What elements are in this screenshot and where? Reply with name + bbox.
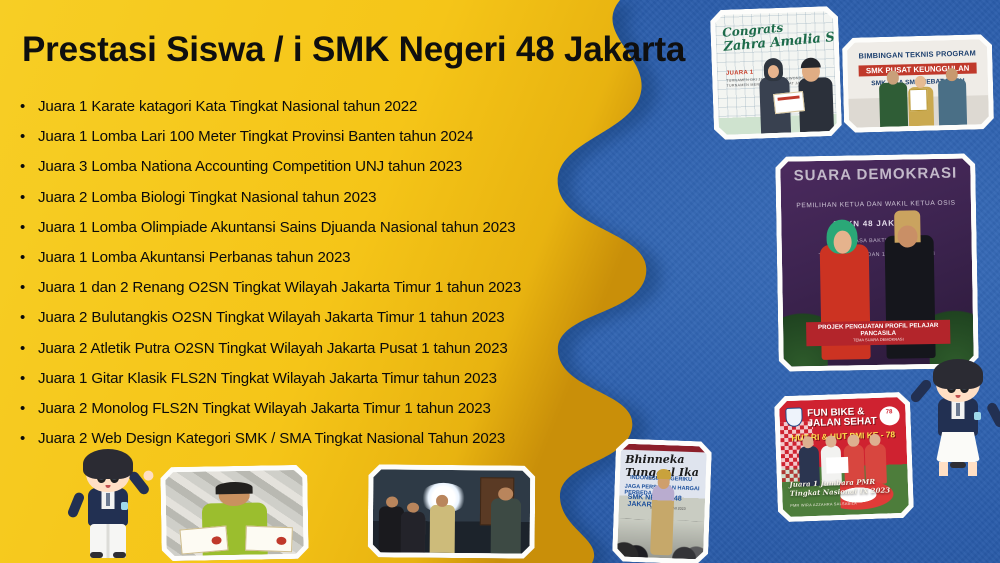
list-item: Juara 1 Karate katagori Kata Tingkat Nas…	[14, 92, 614, 122]
photo-suara-demokrasi: SUARA DEMOKRASI PEMILIHAN KETUA DAN WAKI…	[775, 153, 979, 371]
slide-canvas: Prestasi Siswa / i SMK Negeri 48 Jakarta…	[0, 0, 1000, 563]
list-item: Juara 1 Lomba Lari 100 Meter Tingkat Pro…	[14, 122, 614, 152]
demokrasi-line5: TANGGAL 10, 11 DAN 13 OKTOBER 2023	[782, 251, 972, 260]
photo-bimbingan-teknis: BIMBINGAN TEKNIS PROGRAM SMK PUSAT KEUNG…	[842, 34, 994, 133]
uniform-badge-icon	[974, 412, 981, 420]
school-logo-icon	[786, 407, 803, 426]
page-title: Prestasi Siswa / i SMK Negeri 48 Jakarta	[22, 30, 685, 70]
funbike-line1: FUN BIKE &JALAN SEHAT	[807, 407, 877, 429]
mascot-male-student	[78, 452, 138, 562]
badge-78: 78	[879, 406, 900, 425]
photo-fun-bike-jalan-sehat: 78 FUN BIKE &JALAN SEHAT HUT RI & HUT PM…	[774, 392, 914, 523]
list-item: Juara 2 Bulutangkis O2SN Tingkat Wilayah…	[14, 303, 614, 333]
demokrasi-line3: SMKN 48 JAKARTA	[781, 218, 971, 230]
demokrasi-line2: PEMILIHAN KETUA DAN WAKIL KETUA OSIS	[781, 199, 971, 209]
list-item: Juara 2 Atletik Putra O2SN Tingkat Wilay…	[14, 334, 614, 364]
achievement-list: Juara 1 Karate katagori Kata Tingkat Nas…	[14, 92, 614, 454]
list-item: Juara 2 Monolog FLS2N Tingkat Wilayah Ja…	[14, 394, 614, 424]
photo-congrats-zahra: Congrats Zahra Amalia S. JUARA 1 TURNAME…	[710, 6, 842, 140]
photo-bhinneka-tunggal-ika: Bhinneka Tunggal Ika INDONESIA NEGERIKU …	[612, 438, 712, 563]
list-item: Juara 1 dan 2 Renang O2SN Tingkat Wilaya…	[14, 273, 614, 303]
uniform-badge-icon	[121, 502, 128, 510]
list-item: Juara 1 Lomba Akuntansi Perbanas tahun 2…	[14, 243, 614, 273]
demokrasi-line1: SUARA DEMOKRASI	[780, 164, 970, 184]
mascot-female-student	[925, 362, 991, 487]
photo-studio-produksi	[368, 464, 536, 558]
photo-congrats-handwriting: Congrats Zahra Amalia S.	[722, 16, 837, 55]
demokrasi-overlay: PROJEK PENGUATAN PROFIL PELAJAR PANCASIL…	[806, 319, 951, 345]
list-item: Juara 1 Gitar Klasik FLS2N Tingkat Wilay…	[14, 364, 614, 394]
list-item: Juara 1 Lomba Olimpiade Akuntansi Sains …	[14, 213, 614, 243]
list-item: Juara 3 Lomba Nationa Accounting Competi…	[14, 152, 614, 182]
demokrasi-line4: MASA BAKTI 2023	[782, 236, 972, 245]
photo-sertifikat-guru	[160, 465, 309, 562]
photo-congrats-people	[755, 53, 834, 134]
list-item: Juara 2 Lomba Biologi Tingkat Nasional t…	[14, 183, 614, 213]
